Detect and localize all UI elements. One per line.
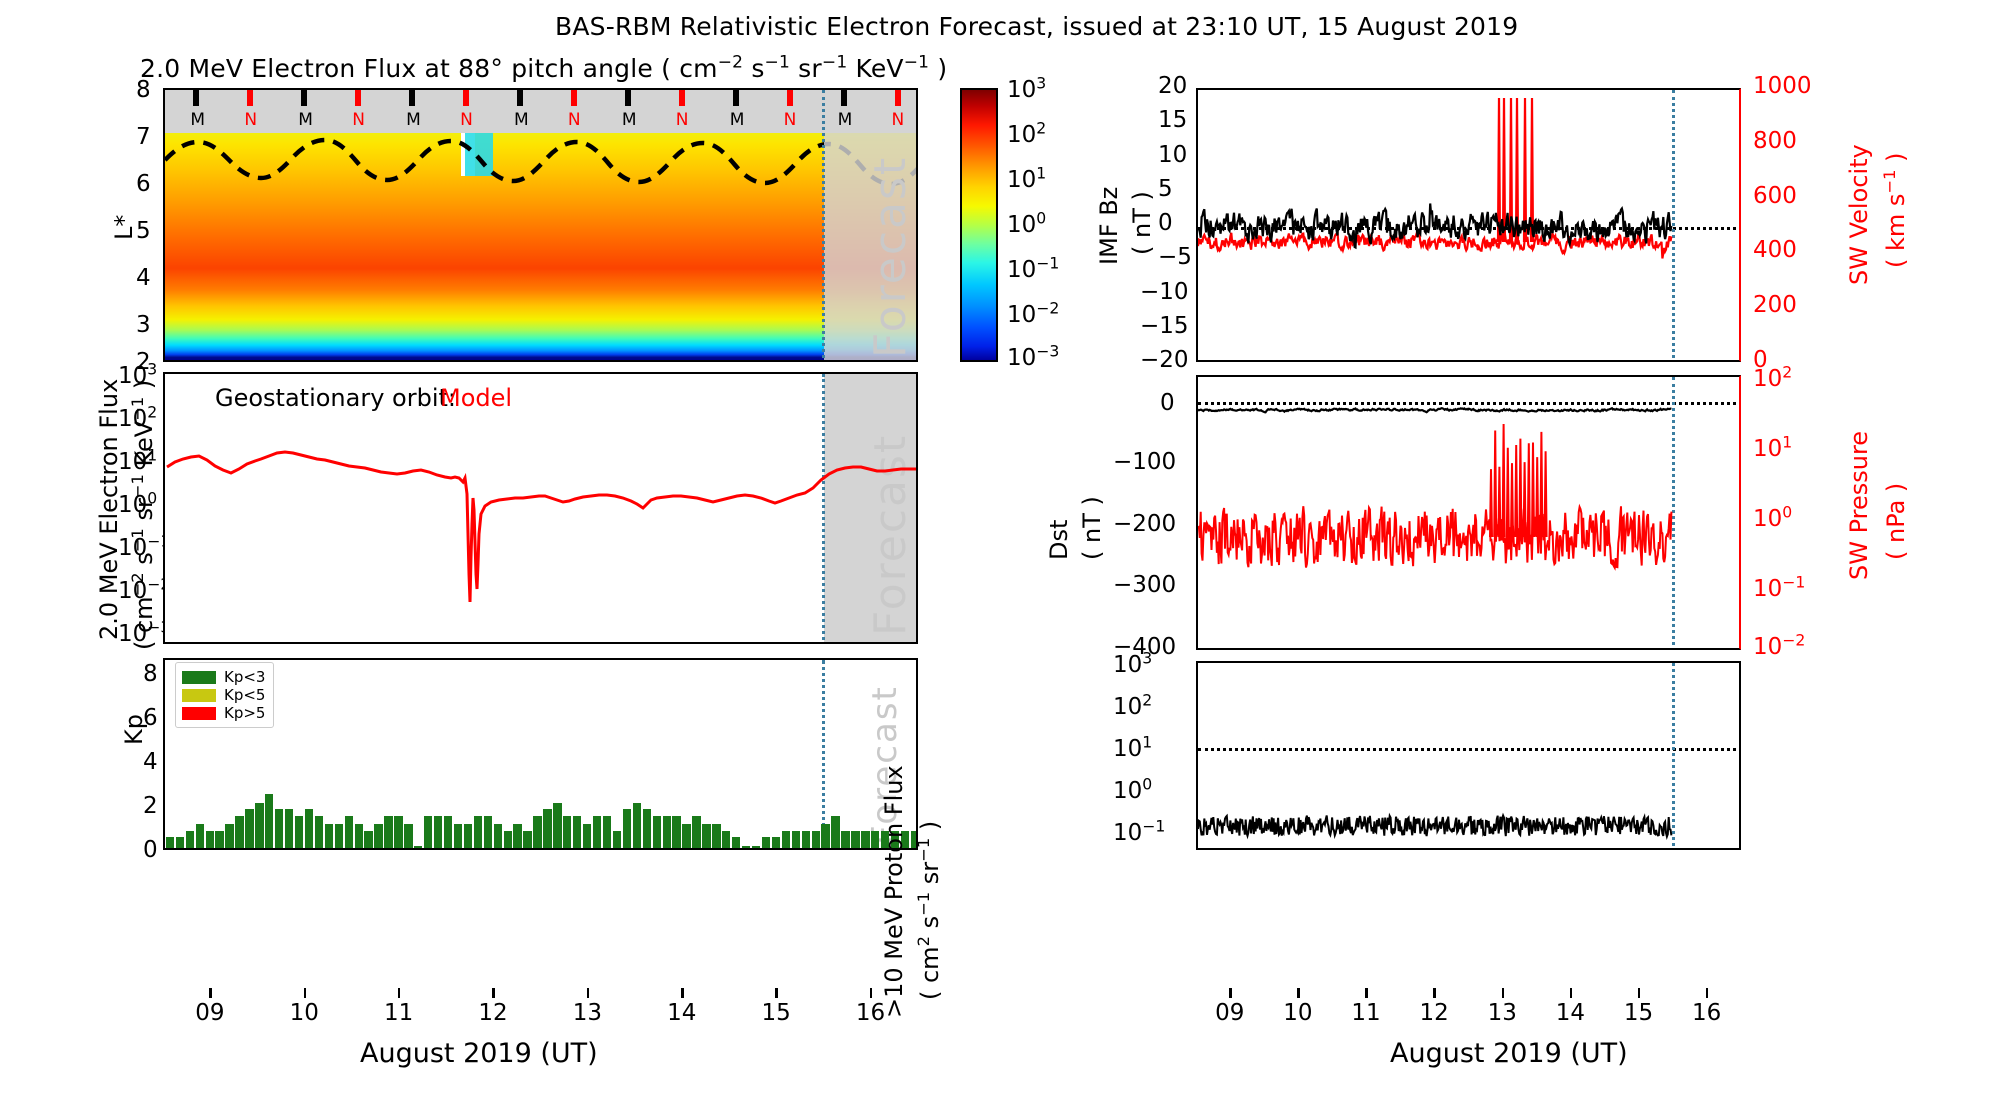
x-tick-mark <box>1706 988 1709 998</box>
forecast-divider-map <box>822 90 825 362</box>
kp-tick-4: 4 <box>143 749 158 775</box>
mn-label-m-4: M <box>406 110 421 130</box>
colorbar-tick-1em2: 10−2 <box>1007 302 1059 328</box>
mn-tick-n-7 <box>571 90 577 106</box>
kp-bar <box>653 816 661 850</box>
imf-tick-7: −15 <box>1140 313 1189 339</box>
kp-bar <box>593 816 601 850</box>
imf-tick-4: 0 <box>1158 210 1173 236</box>
colorbar-tick-1e3-text: 103 <box>1007 77 1046 103</box>
mn-label-n-9: N <box>676 110 689 130</box>
geo-flux-annotation-label: Geostationary orbit: <box>215 384 456 412</box>
swp-tick-1em1: 10−1 <box>1753 576 1805 602</box>
kp-bar <box>504 831 512 850</box>
geo-flux-tick-1e0: 100 <box>118 492 157 518</box>
mn-label-n-11: N <box>784 110 797 130</box>
kp-bar <box>573 816 581 850</box>
kp-bar <box>315 816 323 850</box>
kp-bar <box>613 831 621 850</box>
x-tick-14: 14 <box>667 1000 696 1026</box>
mn-tick-m-10 <box>733 90 739 106</box>
kp-bar <box>712 824 720 850</box>
lstar-tick-3: 3 <box>136 312 151 338</box>
sw-pressure-axis-label-line2: ( nPa ) <box>1882 483 1910 560</box>
kp-legend-row-0: Kp<3 <box>182 668 265 686</box>
mn-tick-n-3 <box>355 90 361 106</box>
kp-bar <box>176 837 184 850</box>
kp-bar <box>831 816 839 850</box>
flux-map-title-e1: −2 <box>718 53 743 73</box>
kp-bar <box>235 816 243 850</box>
kp-bar <box>692 816 700 850</box>
imf-tick-8: −20 <box>1140 347 1189 373</box>
imf-tick-3: 5 <box>1158 176 1173 202</box>
x-tick-mark <box>304 988 307 998</box>
imf-tick-5: −5 <box>1158 244 1192 270</box>
flux-map-title: 2.0 MeV Electron Flux at 88° pitch angle… <box>140 54 947 83</box>
geo-flux-tick-1e2: 102 <box>118 406 157 432</box>
x-tick-15: 15 <box>1624 1000 1653 1026</box>
kp-legend-row-1: Kp<5 <box>182 686 265 704</box>
kp-legend-label-2: Kp>5 <box>224 704 265 722</box>
sw-velocity-axis-label-line1: SW Velocity <box>1845 144 1873 285</box>
proton-axis-label-line2: ( cm2 s−1 sr−1 ) <box>916 821 944 1000</box>
kp-bar <box>513 824 521 850</box>
dst-axis-label-line2: ( nT ) <box>1078 496 1106 560</box>
lstar-tick-8: 8 <box>136 77 151 103</box>
dst-trace <box>1198 377 1741 650</box>
mn-tick-m-12 <box>841 90 847 106</box>
kp-bar <box>563 816 571 850</box>
kp-bar <box>603 816 611 850</box>
kp-tick-8: 8 <box>143 661 158 687</box>
mn-tick-n-11 <box>787 90 793 106</box>
kp-legend-swatch-2 <box>182 707 216 720</box>
flux-map-title-f: ) <box>929 54 947 83</box>
proton-tick-1em1: 10−1 <box>1113 820 1165 846</box>
mn-tick-n-13 <box>895 90 901 106</box>
kp-bar <box>583 824 591 850</box>
x-tick-mark <box>1638 988 1641 998</box>
proton-axis-label-line1: >10 MeV Proton Flux <box>880 765 908 1018</box>
colorbar-tick-1e1: 101 <box>1007 167 1046 193</box>
kp-bar <box>792 831 800 850</box>
colorbar-tick-1e1-text: 101 <box>1007 167 1046 193</box>
colorbar-tick-1e2-text: 102 <box>1007 122 1046 148</box>
kp-bar <box>464 824 472 850</box>
kp-bar <box>374 824 382 850</box>
x-tick-mark <box>775 988 778 998</box>
colorbar-tick-1em2-text: 10−2 <box>1007 302 1059 328</box>
x-axis-label-left: August 2019 (UT) <box>360 1038 598 1069</box>
kp-tick-2: 2 <box>143 793 158 819</box>
swp-tick-1e1: 101 <box>1753 436 1792 462</box>
x-tick-13: 13 <box>573 1000 602 1026</box>
lstar-tick-5: 5 <box>136 218 151 244</box>
proton-flux-panel[interactable] <box>1196 661 1741 850</box>
kp-bar <box>364 831 372 850</box>
kp-legend-swatch-0 <box>182 671 216 684</box>
forecast-watermark-map: Forecast <box>865 156 916 358</box>
mn-label-n-1: N <box>244 110 257 130</box>
swv-tick-1: 800 <box>1753 128 1797 154</box>
figure-title: BAS-RBM Relativistic Electron Forecast, … <box>555 12 1518 41</box>
colorbar-tick-1em1-text: 10−1 <box>1007 257 1059 283</box>
mn-tick-m-8 <box>625 90 631 106</box>
colorbar-tick-1e0: 100 <box>1007 212 1046 238</box>
imf-bz-trace <box>1198 90 1741 362</box>
kp-bar <box>384 816 392 850</box>
swp-tick-1e2: 102 <box>1753 366 1792 392</box>
kp-bar <box>633 803 641 850</box>
mn-label-n-7: N <box>568 110 581 130</box>
kp-bar <box>414 846 422 850</box>
kp-bar <box>166 837 174 850</box>
lstar-tick-4: 4 <box>136 265 151 291</box>
imf-bz-panel[interactable] <box>1196 88 1741 362</box>
dst-panel[interactable] <box>1196 375 1741 650</box>
flux-heatmap-panel[interactable]: Forecast <box>163 88 918 362</box>
swv-tick-0: 1000 <box>1753 73 1812 99</box>
x-tick-12: 12 <box>478 1000 507 1026</box>
kp-bar <box>523 831 531 850</box>
kp-bar <box>484 816 492 850</box>
mn-label-n-5: N <box>460 110 473 130</box>
swv-tick-4: 200 <box>1753 292 1797 318</box>
imf-tick-0: 20 <box>1158 73 1187 99</box>
sw-pressure-axis-label-line1: SW Pressure <box>1845 431 1873 580</box>
flux-map-title-e3: −1 <box>822 53 847 73</box>
kp-bar <box>225 824 233 850</box>
kp-bar <box>643 809 651 850</box>
mn-label-m-10: M <box>730 110 745 130</box>
x-tick-11: 11 <box>384 1000 413 1026</box>
kp-bar <box>424 816 432 850</box>
x-tick-mark <box>1433 988 1436 998</box>
forecast-divider-kp <box>822 660 825 850</box>
geo-flux-model-trace <box>165 374 918 644</box>
kp-panel[interactable]: Forecast <box>163 658 918 850</box>
mn-label-m-6: M <box>514 110 529 130</box>
kp-bar <box>762 837 770 850</box>
proton-flux-trace <box>1198 663 1741 850</box>
flux-map-title-e4: −1 <box>904 53 929 73</box>
dst-tick-m100: −100 <box>1113 449 1176 475</box>
kp-bar <box>196 824 204 850</box>
mn-label-m-2: M <box>298 110 313 130</box>
swv-tick-3: 400 <box>1753 237 1797 263</box>
flux-map-title-d: sr <box>790 54 822 83</box>
geo-flux-panel[interactable]: Forecast Geostationary orbit: Model <box>163 372 918 644</box>
kp-bar <box>285 809 293 850</box>
x-tick-10: 10 <box>1283 1000 1312 1026</box>
x-tick-13: 13 <box>1488 1000 1517 1026</box>
colorbar-tick-1em1: 10−1 <box>1007 257 1059 283</box>
kp-bar <box>404 824 412 850</box>
flux-map-title-e2: −1 <box>765 53 790 73</box>
dst-tick-m300: −300 <box>1113 572 1176 598</box>
flux-map-title-c: s <box>743 54 764 83</box>
x-tick-09: 09 <box>195 1000 224 1026</box>
kp-bar <box>474 816 482 850</box>
mn-tick-m-2 <box>301 90 307 106</box>
kp-bar <box>802 831 810 850</box>
kp-bar <box>186 831 194 850</box>
kp-legend: Kp<3 Kp<5 Kp>5 <box>175 662 274 728</box>
kp-bar <box>206 831 214 850</box>
mn-label-n-13: N <box>892 110 905 130</box>
mn-label-m-0: M <box>190 110 205 130</box>
degree-icon: ° <box>490 54 503 83</box>
x-tick-mark <box>209 988 212 998</box>
kp-bar <box>245 809 253 850</box>
kp-bar <box>752 846 760 850</box>
dst-axis-label-line1: Dst <box>1045 520 1073 560</box>
x-tick-11: 11 <box>1351 1000 1380 1026</box>
dst-tick-0: 0 <box>1160 390 1175 416</box>
x-tick-14: 14 <box>1556 1000 1585 1026</box>
x-tick-15: 15 <box>761 1000 790 1026</box>
kp-bar <box>454 824 462 850</box>
flux-colorbar[interactable] <box>960 88 998 362</box>
x-tick-16: 16 <box>1692 1000 1721 1026</box>
colorbar-tick-1e3: 103 <box>1007 77 1046 103</box>
sw-velocity-axis-label-line2: ( km s−1 ) <box>1882 153 1910 268</box>
mn-tick-m-0 <box>193 90 199 106</box>
x-tick-mark <box>492 988 495 998</box>
kp-tick-6: 6 <box>143 705 158 731</box>
mn-label-m-8: M <box>622 110 637 130</box>
colorbar-tick-1em3: 10−3 <box>1007 345 1059 371</box>
mn-label-n-3: N <box>352 110 365 130</box>
kp-legend-label-1: Kp<5 <box>224 686 265 704</box>
imf-tick-2: 10 <box>1158 142 1187 168</box>
kp-bar <box>543 809 551 850</box>
mn-label-m-12: M <box>838 110 853 130</box>
kp-bar <box>345 816 353 850</box>
geo-flux-tick-1e3: 103 <box>118 363 157 389</box>
kp-bar <box>841 831 849 850</box>
kp-bar <box>782 831 790 850</box>
x-tick-mark <box>587 988 590 998</box>
kp-bar <box>682 824 690 850</box>
x-tick-12: 12 <box>1419 1000 1448 1026</box>
kp-bar <box>434 816 442 850</box>
kp-bar <box>335 824 343 850</box>
x-axis-label-right: August 2019 (UT) <box>1390 1038 1628 1069</box>
kp-bar <box>672 816 680 850</box>
colorbar-tick-1e2: 102 <box>1007 122 1046 148</box>
kp-bar <box>812 831 820 850</box>
kp-bar <box>772 837 780 850</box>
flux-map-title-b: pitch angle ( cm <box>503 54 718 83</box>
lstar-tick-6: 6 <box>136 171 151 197</box>
imf-tick-6: −10 <box>1140 279 1189 305</box>
x-tick-mark <box>1570 988 1573 998</box>
x-tick-mark <box>1297 988 1300 998</box>
kp-legend-swatch-1 <box>182 689 216 702</box>
mn-tick-n-1 <box>247 90 253 106</box>
kp-bar <box>553 803 561 850</box>
kp-tick-0: 0 <box>143 837 158 863</box>
geo-flux-tick-1e1: 101 <box>118 449 157 475</box>
colorbar-tick-1em3-text: 10−3 <box>1007 345 1059 371</box>
swp-tick-1e0: 100 <box>1753 506 1792 532</box>
mn-tick-n-5 <box>463 90 469 106</box>
kp-bar <box>275 809 283 850</box>
kp-bar <box>355 824 363 850</box>
kp-bar <box>663 816 671 850</box>
x-tick-mark <box>870 988 873 998</box>
dst-tick-m200: −200 <box>1113 511 1176 537</box>
imf-tick-1: 15 <box>1158 107 1187 133</box>
kp-legend-label-0: Kp<3 <box>224 668 265 686</box>
kp-bar <box>265 794 273 850</box>
proton-tick-1e1: 101 <box>1113 736 1152 762</box>
kp-bar <box>861 831 869 850</box>
kp-bar <box>702 824 710 850</box>
proton-tick-1e2: 102 <box>1113 694 1152 720</box>
x-tick-mark <box>1365 988 1368 998</box>
kp-bar <box>325 824 333 850</box>
mn-tick-n-9 <box>679 90 685 106</box>
x-tick-mark <box>1229 988 1232 998</box>
kp-bar <box>255 803 263 850</box>
imf-axis-label-line1: IMF Bz <box>1095 187 1123 265</box>
kp-bar <box>871 831 879 850</box>
kp-bar <box>623 809 631 850</box>
proton-tick-1e0: 100 <box>1113 778 1152 804</box>
kp-bar <box>821 824 829 850</box>
kp-bar <box>215 831 223 850</box>
mn-tick-m-6 <box>517 90 523 106</box>
colorbar-tick-1e0-text: 100 <box>1007 212 1046 238</box>
proton-tick-1e3: 103 <box>1113 652 1152 678</box>
lstar-axis-label: L* <box>110 215 138 240</box>
flux-map-title-e: KeV <box>847 54 903 83</box>
kp-bar <box>494 824 502 850</box>
kp-bar <box>295 816 303 850</box>
kp-bar <box>533 816 541 850</box>
kp-bar <box>742 846 750 850</box>
kp-bar <box>305 809 313 850</box>
kp-bar <box>444 816 452 850</box>
imf-axis-label-line2: ( nT ) <box>1128 191 1156 255</box>
kp-legend-row-2: Kp>5 <box>182 704 265 722</box>
x-tick-mark <box>1502 988 1505 998</box>
x-tick-mark <box>681 988 684 998</box>
flux-map-title-a: 2.0 MeV Electron Flux at 88 <box>140 54 490 83</box>
kp-bar <box>722 831 730 850</box>
kp-bar <box>732 837 740 850</box>
swp-tick-1em2: 10−2 <box>1753 634 1805 660</box>
kp-bar <box>851 831 859 850</box>
kp-bar <box>394 816 402 850</box>
x-tick-09: 09 <box>1215 1000 1244 1026</box>
x-tick-10: 10 <box>290 1000 319 1026</box>
lstar-tick-7: 7 <box>136 124 151 150</box>
swv-tick-2: 600 <box>1753 183 1797 209</box>
mn-marker-strip <box>165 90 918 133</box>
x-tick-mark <box>398 988 401 998</box>
mn-tick-m-4 <box>409 90 415 106</box>
geo-flux-annotation-series: Model <box>440 384 512 412</box>
